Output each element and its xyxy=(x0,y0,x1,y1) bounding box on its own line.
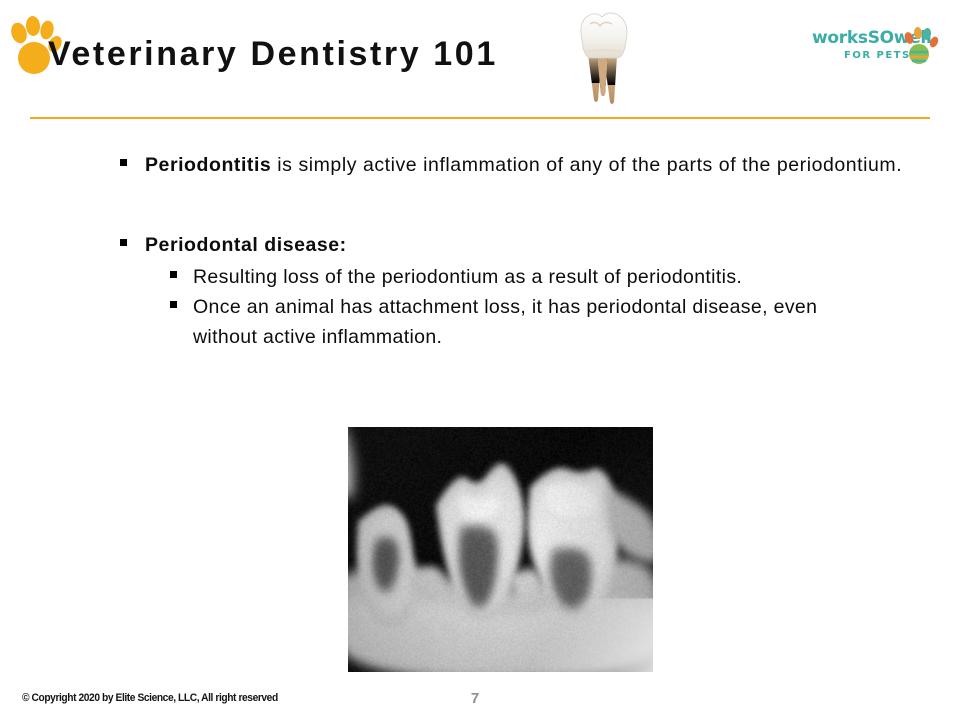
bullet-spacer xyxy=(0,180,960,230)
bullet-item: Periodontitis is simply active inflammat… xyxy=(120,150,904,180)
sub-bullet-item: Once an animal has attachment loss, it h… xyxy=(170,292,880,352)
bullet-item: Periodontal disease: xyxy=(120,230,904,260)
slide-body: Periodontitis is simply active inflammat… xyxy=(0,150,960,352)
bullet-text: Periodontitis is simply active inflammat… xyxy=(145,150,904,180)
bullet-square-icon xyxy=(170,271,177,278)
dental-radiograph xyxy=(348,427,653,672)
dental-radiograph-canvas xyxy=(348,427,653,672)
header-divider xyxy=(30,117,930,119)
bullet-square-icon xyxy=(120,159,127,166)
slide-header: Veterinary Dentistry 101 xyxy=(0,0,960,125)
bullet-text: Periodontal disease: xyxy=(145,230,904,260)
sub-bullet-text: Once an animal has attachment loss, it h… xyxy=(193,292,880,352)
copyright-text: © Copyright 2020 by Elite Science, LLC, … xyxy=(22,692,278,704)
bullet-bold-lead: Periodontal disease: xyxy=(145,234,347,256)
bullet-square-icon xyxy=(120,239,127,246)
bullet-square-icon xyxy=(170,301,177,308)
slide-footer: © Copyright 2020 by Elite Science, LLC, … xyxy=(0,690,960,720)
bullet-bold-lead: Periodontitis xyxy=(145,154,271,176)
multicolor-paw-icon xyxy=(900,26,942,68)
sub-bullet-text: Resulting loss of the periodontium as a … xyxy=(193,262,880,292)
page-title: Veterinary Dentistry 101 xyxy=(48,32,498,76)
brand-logo: worksSOwell ™ FOR PETS xyxy=(812,26,948,72)
page-number: 7 xyxy=(455,690,495,707)
molar-tooth-icon xyxy=(568,8,642,106)
sub-bullet-item: Resulting loss of the periodontium as a … xyxy=(170,262,880,292)
bullet-rest: is simply active inflammation of any of … xyxy=(271,154,902,176)
